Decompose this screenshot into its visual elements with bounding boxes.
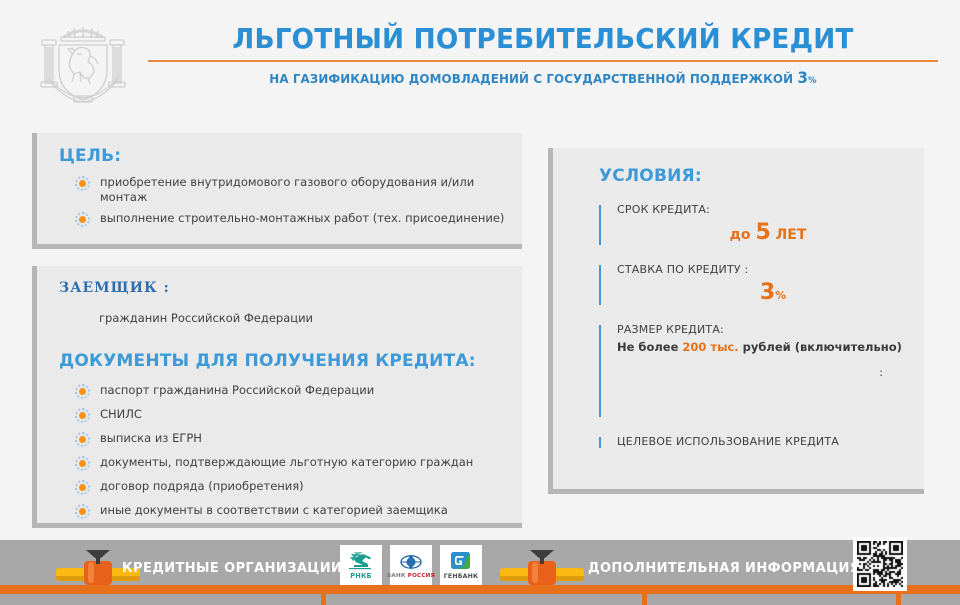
page-title: ЛЬГОТНЫЙ ПОТРЕБИТЕЛЬСКИЙ КРЕДИТ [172,24,915,54]
footer-orange-stripe [0,585,960,594]
list-item: СНИЛС [75,407,525,423]
sunburst-bullet-icon [75,504,90,519]
bank-name-suffix: РОССИЯ [408,573,435,579]
list-item: выполнение строительно-монтажных работ (… [75,211,515,227]
title-block: ЛЬГОТНЫЙ ПОТРЕБИТЕЛЬСКИЙ КРЕДИТ НА ГАЗИФ… [148,24,938,87]
term-label: СТАВКА ПО КРЕДИТУ : [617,263,919,276]
term-label: СРОК КРЕДИТА: [617,203,919,216]
document-item-label: документы, подтверждающие льготную катег… [100,455,473,470]
amount-prefix: Не более [617,340,682,354]
list-item: выписка из ЕГРН [75,431,525,447]
goal-panel: ЦЕЛЬ: приобретение внутридомового газово… [32,133,522,249]
bank-name-label: БАНК РОССИЯ [387,573,435,579]
sunburst-bullet-icon [75,176,90,191]
credit-organizations-caption: КРЕДИТНЫЕ ОРГАНИЗАЦИИ [122,561,342,576]
stripe-drop-stub [896,594,901,605]
document-item-label: иные документы в соответствии с категори… [100,503,448,518]
borrower-title: ЗАЕМЩИК : [59,280,170,296]
period-suffix: ЛЕТ [771,227,807,243]
amount-suffix: рублей (включительно) [739,340,902,354]
list-item: иные документы в соответствии с категори… [75,503,525,519]
qr-code-canvas [857,541,903,587]
document-item-label: СНИЛС [100,407,142,422]
subtitle-percent: % [808,76,817,86]
bank-logo-rossiya[interactable]: БАНК РОССИЯ [390,545,432,585]
bank-logo-genbank[interactable]: ГЕНБАНК [440,545,482,585]
term-interest-rate: СТАВКА ПО КРЕДИТУ : 3% [599,263,919,305]
amount-highlight: 200 тыс. [682,340,738,354]
title-divider [148,60,938,62]
goal-item-label: выполнение строительно-монтажных работ (… [100,211,504,226]
list-item: договор подряда (приобретения) [75,479,525,495]
document-item-label: паспорт гражданина Российской Федерации [100,383,374,398]
coat-of-arms-of-crimea-icon [28,18,138,104]
documents-list: паспорт гражданина Российской Федерации … [75,383,525,527]
goal-item-label: приобретение внутридомового газового обо… [100,175,515,204]
list-item: приобретение внутридомового газового обо… [75,175,515,204]
sunburst-bullet-icon [75,480,90,495]
term-label: РАЗМЕР КРЕДИТА: [617,323,919,336]
sunburst-bullet-icon [75,408,90,423]
term-label: ЦЕЛЕВОЕ ИСПОЛЬЗОВАНИЕ КРЕДИТА [617,435,919,448]
list-item: паспорт гражданина Российской Федерации [75,383,525,399]
bank-name-label: ГЕНБАНК [444,573,479,580]
goal-list: приобретение внутридомового газового обо… [75,175,515,234]
period-prefix: до [730,227,756,243]
term-amount-value: Не более 200 тыс. рублей (включительно) [617,340,919,354]
sunburst-bullet-icon [75,432,90,447]
documents-title: ДОКУМЕНТЫ ДЛЯ ПОЛУЧЕНИЯ КРЕДИТА: [59,351,476,371]
stripe-drop-stub [321,594,326,605]
rate-percent: % [775,289,786,302]
term-targeted-use: ЦЕЛЕВОЕ ИСПОЛЬЗОВАНИЕ КРЕДИТА [599,435,919,448]
qr-code-icon[interactable] [853,537,907,591]
stripe-drop-stub [642,594,647,605]
header: ЛЬГОТНЫЙ ПОТРЕБИТЕЛЬСКИЙ КРЕДИТ НА ГАЗИФ… [0,0,960,118]
square-g-mark-icon [450,551,472,572]
terms-list: СРОК КРЕДИТА: до 5 ЛЕТ СТАВКА ПО КРЕДИТУ… [599,203,919,452]
stray-colon: : [617,366,919,379]
term-credit-period: СРОК КРЕДИТА: до 5 ЛЕТ [599,203,919,245]
globe-mark-icon [399,551,423,572]
goal-panel-title: ЦЕЛЬ: [59,146,121,166]
additional-information-caption: ДОПОЛНИТЕЛЬНАЯ ИНФОРМАЦИЯ [588,561,860,576]
sunburst-bullet-icon [75,384,90,399]
document-item-label: договор подряда (приобретения) [100,479,304,494]
sunburst-bullet-icon [75,212,90,227]
terms-panel-title: УСЛОВИЯ: [599,166,702,186]
term-value: до 5 ЛЕТ [617,220,919,245]
term-credit-size: РАЗМЕР КРЕДИТА: Не более 200 тыс. рублей… [599,323,919,417]
list-item: документы, подтверждающие льготную катег… [75,455,525,471]
terms-panel: УСЛОВИЯ: СРОК КРЕДИТА: до 5 ЛЕТ СТАВКА П… [548,148,924,494]
sunburst-bullet-icon [75,456,90,471]
subtitle-text: НА ГАЗИФИКАЦИЮ ДОМОВЛАДЕНИЙ С ГОСУДАРСТВ… [269,71,797,86]
bank-name-prefix: БАНК [387,573,408,579]
period-number: 5 [755,220,770,245]
bank-name-label: РНКБ [350,572,372,580]
borrower-value: гражданин Российской Федерации [99,311,313,325]
infographic-page: ЛЬГОТНЫЙ ПОТРЕБИТЕЛЬСКИЙ КРЕДИТ НА ГАЗИФ… [0,0,960,605]
page-subtitle: НА ГАЗИФИКАЦИЮ ДОМОВЛАДЕНИЙ С ГОСУДАРСТВ… [168,68,919,87]
griffin-mark-icon [348,550,374,571]
document-item-label: выписка из ЕГРН [100,431,202,446]
documents-panel: ЗАЕМЩИК : гражданин Российской Федерации… [32,266,522,528]
bank-logo-rnkb[interactable]: РНКБ [340,545,382,585]
subtitle-rate: 3 [797,68,808,87]
rate-number: 3 [760,280,775,305]
term-value: 3% [617,280,919,305]
gas-valve-icon [500,548,584,588]
